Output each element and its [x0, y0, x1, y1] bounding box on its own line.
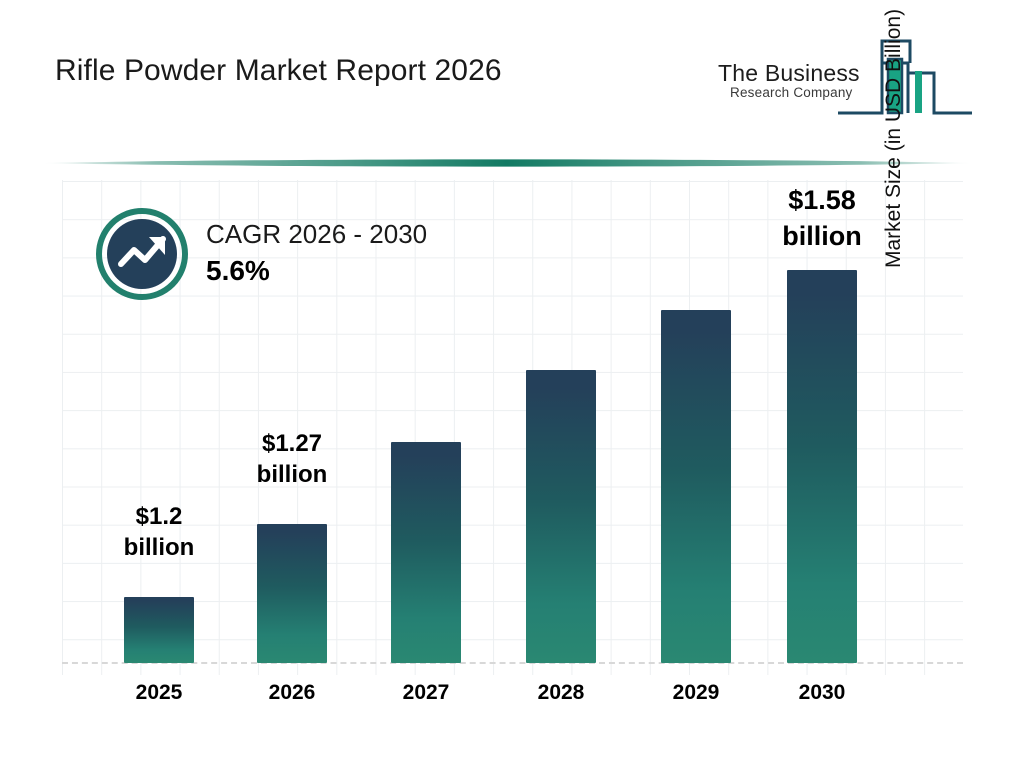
- x-tick-label-2030: 2030: [762, 681, 882, 705]
- bar-value-amount-2025: $1.2: [89, 501, 229, 532]
- cagr-value-label: 5.6%: [206, 252, 427, 290]
- bar-value-amount-2026: $1.27: [222, 428, 362, 459]
- bar-2028[interactable]: [526, 370, 596, 663]
- bar-2025[interactable]: [124, 597, 194, 663]
- bar-2030[interactable]: [787, 270, 857, 663]
- cagr-text-block: CAGR 2026 - 2030 5.6%: [206, 216, 427, 290]
- x-tick-label-2025: 2025: [99, 681, 219, 705]
- bar-value-label-2030: $1.58 billion: [752, 182, 892, 254]
- x-tick-label-2027: 2027: [366, 681, 486, 705]
- bar-value-unit-2025: billion: [89, 532, 229, 563]
- trending-up-arrow-icon: [96, 208, 188, 300]
- bar-2029[interactable]: [661, 310, 731, 663]
- cagr-range-label: CAGR 2026 - 2030: [206, 216, 427, 252]
- bar-value-unit-2026: billion: [222, 459, 362, 490]
- bar-2027[interactable]: [391, 442, 461, 663]
- bar-2026[interactable]: [257, 524, 327, 663]
- x-tick-label-2026: 2026: [232, 681, 352, 705]
- bar-value-amount-2030: $1.58: [752, 182, 892, 218]
- cagr-badge: CAGR 2026 - 2030 5.6%: [96, 208, 516, 308]
- header-divider: [42, 156, 972, 168]
- page-title: Rifle Powder Market Report 2026: [55, 54, 502, 88]
- x-tick-label-2029: 2029: [636, 681, 756, 705]
- y-axis-title: Market Size (in USD Billion): [882, 0, 906, 268]
- bar-chart: $1.2 billion $1.27 billion $1.58 billion…: [0, 168, 1024, 768]
- x-tick-label-2028: 2028: [501, 681, 621, 705]
- company-logo: The Business Research Company: [718, 33, 974, 123]
- bar-value-label-2026: $1.27 billion: [222, 428, 362, 490]
- header: Rifle Powder Market Report 2026 The Busi…: [0, 0, 1024, 148]
- bar-value-unit-2030: billion: [752, 218, 892, 254]
- bar-value-label-2025: $1.2 billion: [89, 501, 229, 563]
